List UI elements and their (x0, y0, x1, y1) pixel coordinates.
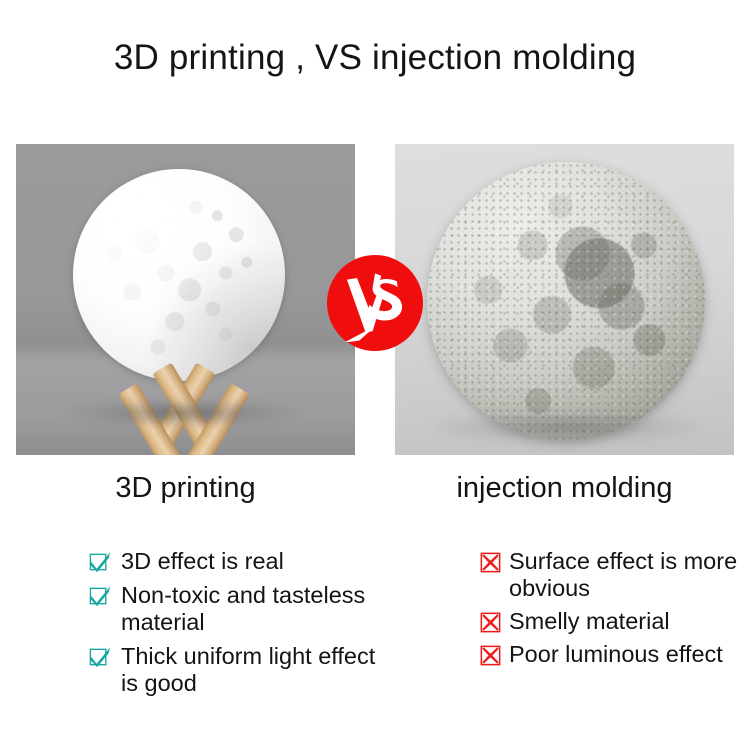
check-icon (88, 584, 113, 609)
cross-icon (478, 610, 503, 635)
feature-list-injection-molding: Surface effect is more obvious Smelly ma… (478, 548, 750, 674)
list-item-label: 3D effect is real (121, 548, 284, 575)
list-item: Thick uniform light effect is good (88, 643, 388, 697)
list-item: Poor luminous effect (478, 641, 750, 668)
check-icon (88, 645, 113, 670)
cross-icon (478, 550, 503, 575)
list-item-label: Smelly material (509, 608, 670, 635)
photo-injection-molding (395, 144, 734, 455)
cross-icon (478, 643, 503, 668)
photo-panel-3d-printing (16, 144, 355, 455)
list-item: Surface effect is more obvious (478, 548, 750, 602)
list-item: 3D effect is real (88, 548, 388, 575)
vs-badge (327, 255, 423, 351)
list-item-label: Poor luminous effect (509, 641, 723, 668)
list-item: Smelly material (478, 608, 750, 635)
photo-3d-printing (16, 144, 355, 455)
feature-list-3d-printing: 3D effect is real Non-toxic and tasteles… (88, 548, 388, 704)
vs-letters-icon (336, 264, 414, 342)
list-item-label: Thick uniform light effect is good (121, 643, 388, 697)
photo-panel-injection-molding (395, 144, 734, 455)
moon-lamp-sphere (73, 169, 285, 381)
list-item-label: Non-toxic and tasteless material (121, 582, 388, 636)
check-icon (88, 550, 113, 575)
caption-injection-molding: injection molding (395, 472, 734, 505)
caption-3d-printing: 3D printing (16, 472, 355, 505)
list-item: Non-toxic and tasteless material (88, 582, 388, 636)
page-title: 3D printing , VS injection molding (0, 38, 750, 78)
list-item-label: Surface effect is more obvious (509, 548, 750, 602)
molded-sphere (427, 162, 705, 440)
wooden-stand (111, 362, 256, 440)
